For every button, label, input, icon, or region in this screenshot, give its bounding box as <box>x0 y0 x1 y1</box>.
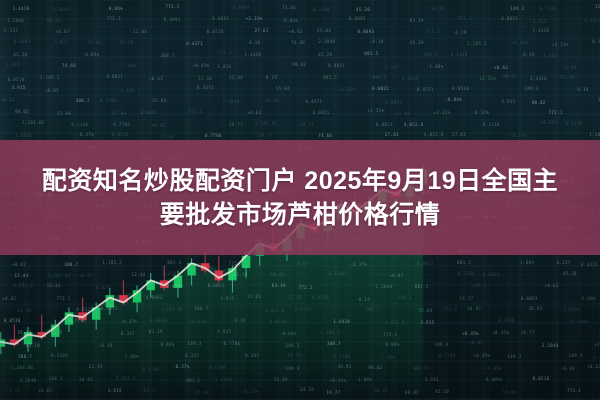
banner-image: 1.44202.2048-0.84%772.10.009374.660.1140… <box>0 0 600 400</box>
title-line-2: 要批发市场芦柑价格行情 <box>160 200 441 230</box>
banner-title: 配资知名炒股配资门户 2025年9月19日全国主 要批发市场芦柑价格行情 <box>0 140 600 255</box>
title-line-1: 配资知名炒股配资门户 2025年9月19日全国主 <box>42 166 558 196</box>
